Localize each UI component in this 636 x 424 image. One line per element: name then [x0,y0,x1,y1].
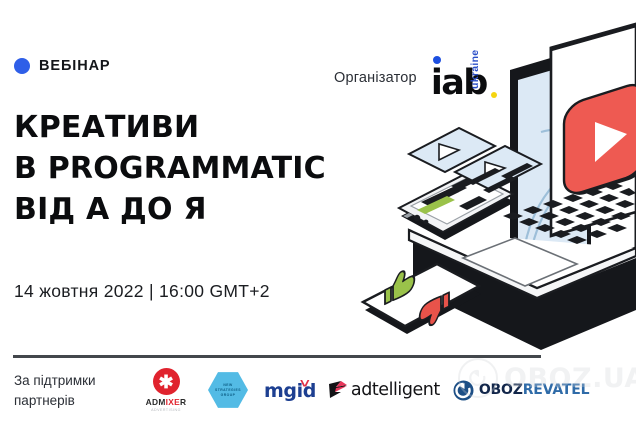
organizer-label: Організатор [334,70,417,86]
obozrevatel-word-b: REVATEL [523,382,590,398]
headline-line-2: В PROGRAMMATIC [14,149,326,190]
event-datetime: 14 жовтня 2022 | 16:00 GMT+2 [14,281,270,302]
admixer-wordmark: ADMIXER [140,397,192,407]
support-label-line-2: партнерів [14,391,122,411]
partner-logo-mgid[interactable]: ˅ mgid [264,378,316,402]
support-label: За підтримки партнерів [14,368,122,410]
hexagon-line-2: STRATEGIES [215,388,241,392]
partners-footer: За підтримки партнерів ✱ ADMIXER ADVERTI… [14,368,589,412]
admixer-word-b: IXE [166,397,180,407]
admixer-word-c: R [180,397,186,407]
admixer-word-a: ADM [146,397,166,407]
partner-logo-row: ✱ ADMIXER ADVERTISING NEW STRATEGIES GRO… [140,368,589,412]
obozrevatel-wordmark: OBOZREVATEL [479,382,589,398]
partner-logo-obozrevatel[interactable]: OBOZREVATEL [453,380,589,401]
webinar-badge: ВЕБІНАР [14,58,111,74]
iab-accent-dot-icon [491,92,498,99]
badge-label: ВЕБІНАР [39,58,111,74]
obozrevatel-circle-icon [453,380,474,401]
headline-line-1: КРЕАТИВИ [14,108,326,149]
iab-country-block: ukraine [490,58,505,98]
support-label-line-1: За підтримки [14,371,122,391]
partner-logo-new-strategies-group[interactable]: NEW STRATEGIES GROUP [205,369,251,411]
organizer-block: Організатор iab ukraine [334,58,505,98]
iab-logo: iab ukraine [431,58,505,98]
footer-divider [13,355,541,358]
page-title: КРЕАТИВИ В PROGRAMMATIC ВІД А ДО Я [14,108,326,230]
admixer-subtitle: ADVERTISING [140,408,192,412]
admixer-star-icon: ✱ [153,368,180,395]
hexagon-text-block: NEW STRATEGIES GROUP [205,369,251,411]
webinar-poster: ВЕБІНАР Організатор iab ukraine КРЕАТИВИ… [0,0,636,424]
badge-dot-icon [14,58,30,74]
obozrevatel-word-a: OBOZ [479,382,523,398]
headline-line-3: ВІД А ДО Я [14,190,326,231]
partner-logo-adtelligent[interactable]: adtelligent [329,380,440,400]
hexagon-line-1: NEW [223,383,232,387]
adtelligent-arrow-icon [329,381,350,399]
iab-country-label: ukraine [469,50,481,89]
adtelligent-wordmark: adtelligent [351,380,440,400]
mgid-check-icon: ˅ [300,376,310,391]
hexagon-line-3: GROUP [221,393,236,397]
partner-logo-admixer[interactable]: ✱ ADMIXER ADVERTISING [140,368,192,412]
